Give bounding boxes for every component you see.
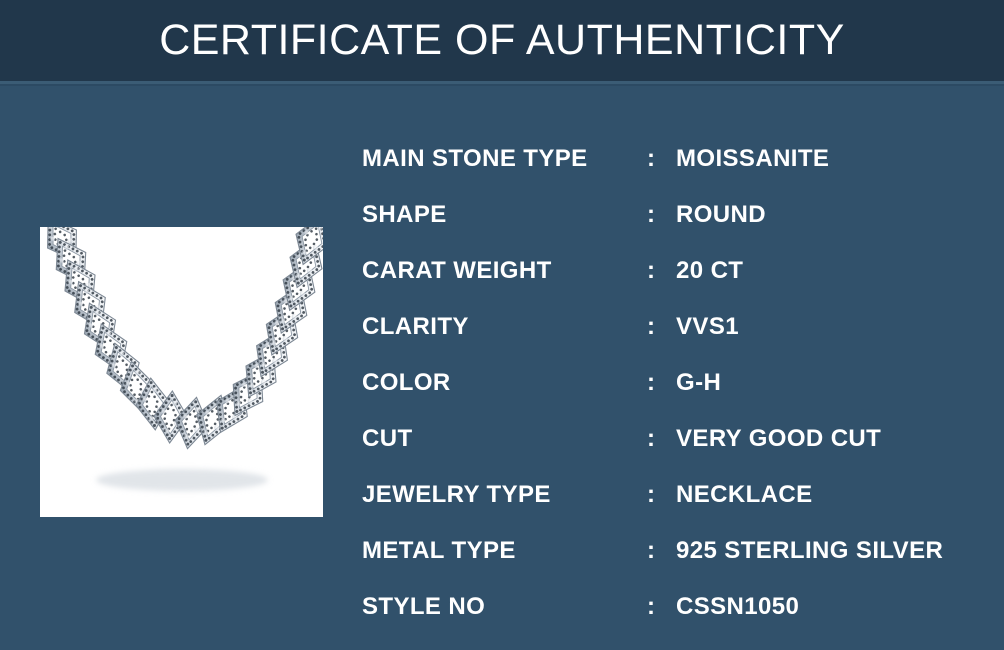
spec-value: MOISSANITE bbox=[676, 131, 829, 187]
spec-value: 20 CT bbox=[676, 243, 743, 299]
certificate-of-authenticity: CERTIFICATE OF AUTHENTICITY bbox=[0, 0, 1004, 650]
spec-separator: : bbox=[647, 523, 655, 579]
table-row: STYLE NO : CSSN1050 bbox=[362, 579, 992, 635]
spec-value: NECKLACE bbox=[676, 467, 813, 523]
table-row: COLOR : G-H bbox=[362, 355, 992, 411]
spec-label: SHAPE bbox=[362, 187, 447, 243]
spec-separator: : bbox=[647, 187, 655, 243]
product-image-panel bbox=[40, 227, 323, 517]
spec-label: COLOR bbox=[362, 355, 451, 411]
table-row: CUT : VERY GOOD CUT bbox=[362, 411, 992, 467]
spec-value: VVS1 bbox=[676, 299, 739, 355]
table-row: JEWELRY TYPE : NECKLACE bbox=[362, 467, 992, 523]
spec-separator: : bbox=[647, 411, 655, 467]
table-row: CARAT WEIGHT : 20 CT bbox=[362, 243, 992, 299]
spec-value: 925 STERLING SILVER bbox=[676, 523, 943, 579]
spec-value: CSSN1050 bbox=[676, 579, 799, 635]
table-row: CLARITY : VVS1 bbox=[362, 299, 992, 355]
spec-separator: : bbox=[647, 243, 655, 299]
spec-separator: : bbox=[647, 467, 655, 523]
table-row: SHAPE : ROUND bbox=[362, 187, 992, 243]
spec-value: VERY GOOD CUT bbox=[676, 411, 881, 467]
spec-label: CARAT WEIGHT bbox=[362, 243, 552, 299]
spec-label: CUT bbox=[362, 411, 413, 467]
header-divider-dark bbox=[0, 84, 1004, 86]
table-row: MAIN STONE TYPE : MOISSANITE bbox=[362, 131, 992, 187]
spec-label: MAIN STONE TYPE bbox=[362, 131, 588, 187]
spec-label: JEWELRY TYPE bbox=[362, 467, 551, 523]
page-title: CERTIFICATE OF AUTHENTICITY bbox=[0, 12, 1004, 69]
spec-separator: : bbox=[647, 299, 655, 355]
spec-separator: : bbox=[647, 355, 655, 411]
spec-separator: : bbox=[647, 579, 655, 635]
table-row: METAL TYPE : 925 STERLING SILVER bbox=[362, 523, 992, 579]
specification-table: MAIN STONE TYPE : MOISSANITE SHAPE : ROU… bbox=[362, 131, 992, 635]
spec-label: METAL TYPE bbox=[362, 523, 516, 579]
spec-label: CLARITY bbox=[362, 299, 469, 355]
spec-label: STYLE NO bbox=[362, 579, 485, 635]
spec-value: ROUND bbox=[676, 187, 766, 243]
necklace-photo bbox=[40, 227, 323, 517]
spec-separator: : bbox=[647, 131, 655, 187]
spec-value: G-H bbox=[676, 355, 721, 411]
